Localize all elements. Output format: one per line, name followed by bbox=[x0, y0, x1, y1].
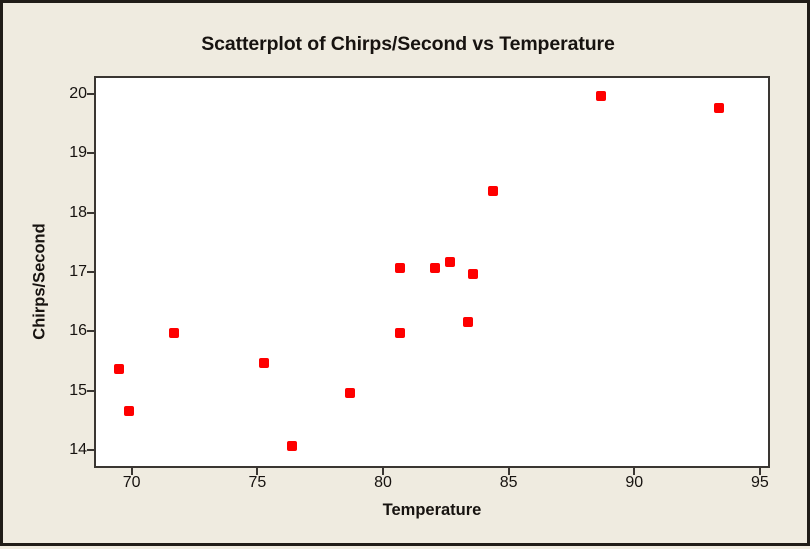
x-axis-tick-label: 85 bbox=[479, 475, 539, 491]
x-axis-tick-label: 80 bbox=[353, 475, 413, 491]
y-axis-tick-label: 20 bbox=[47, 86, 87, 102]
y-axis-tick-label: 16 bbox=[47, 323, 87, 339]
x-axis-tick-mark bbox=[508, 468, 510, 475]
data-point bbox=[395, 263, 405, 273]
x-axis-tick-mark bbox=[256, 468, 258, 475]
data-point bbox=[445, 257, 455, 267]
x-axis-tick-label: 75 bbox=[227, 475, 287, 491]
y-axis-tick-mark bbox=[87, 390, 94, 392]
y-axis-tick-mark bbox=[87, 93, 94, 95]
data-point bbox=[259, 358, 269, 368]
y-axis-tick-labels: 14151617181920 bbox=[39, 3, 87, 549]
data-point bbox=[596, 91, 606, 101]
plot-frame bbox=[94, 76, 770, 468]
data-point bbox=[468, 269, 478, 279]
y-axis-tick-label: 15 bbox=[47, 383, 87, 399]
y-axis-tick-mark bbox=[87, 212, 94, 214]
x-axis-tick-mark bbox=[382, 468, 384, 475]
y-axis-tick-label: 18 bbox=[47, 205, 87, 221]
x-axis-tick-mark bbox=[633, 468, 635, 475]
data-point bbox=[124, 406, 134, 416]
data-point bbox=[714, 103, 724, 113]
scatterplot-figure: Scatterplot of Chirps/Second vs Temperat… bbox=[0, 0, 810, 546]
y-axis-tick-mark bbox=[87, 271, 94, 273]
y-axis-tick-label: 14 bbox=[47, 442, 87, 458]
x-axis-tick-label: 70 bbox=[102, 475, 162, 491]
x-axis-title: Temperature bbox=[94, 501, 770, 520]
plot-area bbox=[96, 78, 768, 466]
data-point bbox=[345, 388, 355, 398]
y-axis-tick-label: 17 bbox=[47, 264, 87, 280]
x-axis-tick-label: 95 bbox=[730, 475, 790, 491]
y-axis-tick-label: 19 bbox=[47, 145, 87, 161]
data-point bbox=[488, 186, 498, 196]
data-point bbox=[463, 317, 473, 327]
x-axis-tick-mark bbox=[759, 468, 761, 475]
data-point bbox=[287, 441, 297, 451]
y-axis-tick-mark bbox=[87, 330, 94, 332]
y-axis-tick-mark bbox=[87, 449, 94, 451]
chart-title: Scatterplot of Chirps/Second vs Temperat… bbox=[3, 33, 810, 56]
data-point bbox=[395, 328, 405, 338]
x-axis-tick-label: 90 bbox=[604, 475, 664, 491]
data-point bbox=[169, 328, 179, 338]
x-axis-tick-mark bbox=[131, 468, 133, 475]
data-point bbox=[430, 263, 440, 273]
y-axis-tick-mark bbox=[87, 152, 94, 154]
data-point bbox=[114, 364, 124, 374]
